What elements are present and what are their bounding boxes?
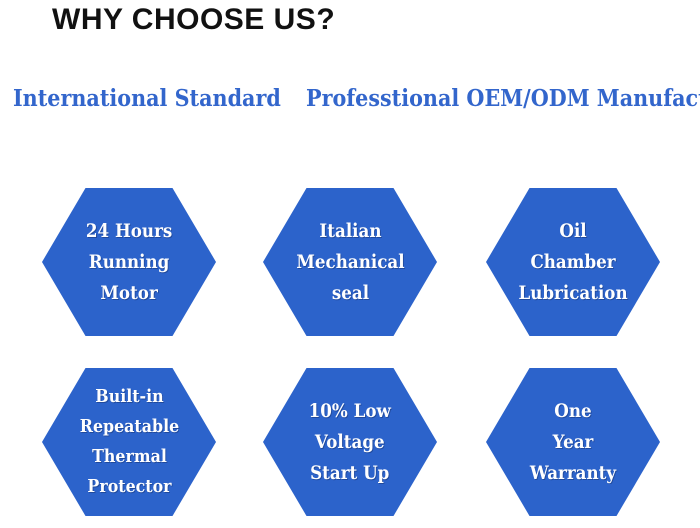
hexagon-label: Built-in Repeatable Thermal Protector <box>78 382 181 502</box>
hexagon-oil-chamber-lubrication: Oil Chamber Lubrication <box>486 188 660 336</box>
hexagon-10-percent-low-voltage-start-up: 10% Low Voltage Start Up <box>263 368 437 516</box>
hexagon-grid: 24 Hours Running Motor Italian Mechanica… <box>0 0 700 528</box>
hexagon-one-year-warranty: One Year Warranty <box>486 368 660 516</box>
hexagon-label: 10% Low Voltage Start Up <box>307 396 393 489</box>
why-choose-us-infographic: WHY CHOOSE US? International Standard Pr… <box>0 0 700 528</box>
hexagon-label: Italian Mechanical seal <box>294 216 406 309</box>
hexagon-24-hours-running-motor: 24 Hours Running Motor <box>42 188 216 336</box>
hexagon-label: One Year Warranty <box>528 396 618 489</box>
hexagon-italian-mechanical-seal: Italian Mechanical seal <box>263 188 437 336</box>
hexagon-label: Oil Chamber Lubrication <box>517 216 630 309</box>
hexagon-label: 24 Hours Running Motor <box>84 216 174 309</box>
hexagon-built-in-repeatable-thermal-protector: Built-in Repeatable Thermal Protector <box>42 368 216 516</box>
